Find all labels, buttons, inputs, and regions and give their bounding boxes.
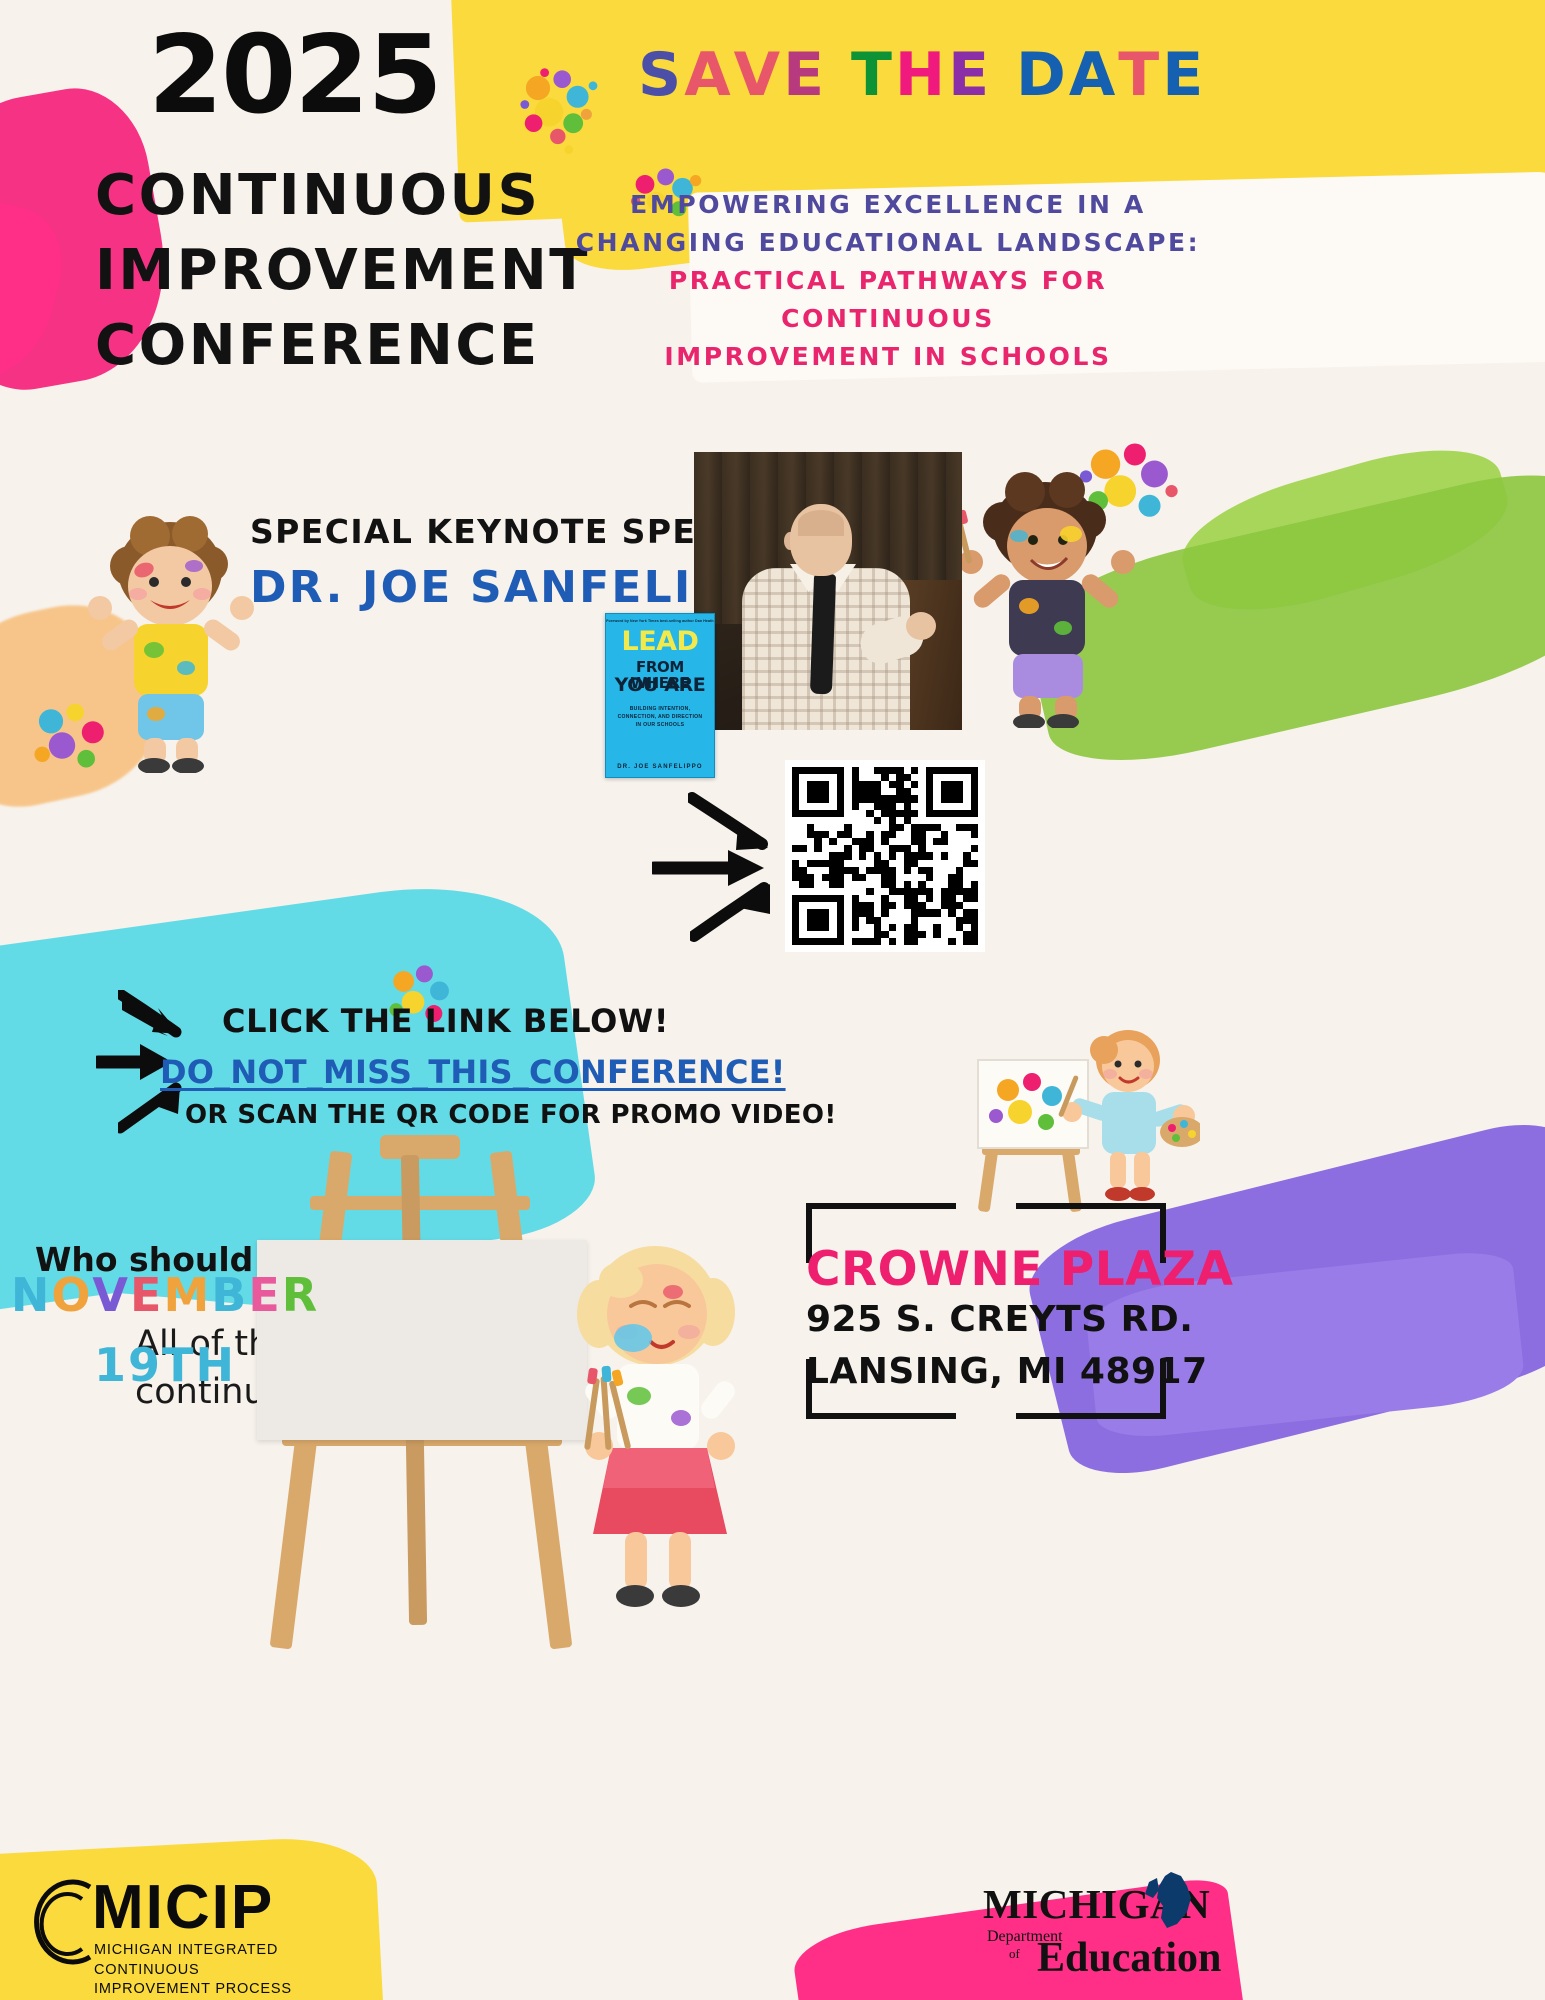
conference-title-line-2: IMPROVEMENT (95, 233, 590, 308)
subtitle-purple-line-1: EMPOWERING EXCELLENCE IN A (568, 186, 1208, 224)
book-title-lead: LEAD (606, 628, 714, 655)
save-date-letter-4 (827, 40, 851, 110)
subtitle-pink-line-2: IMPROVEMENT IN SCHOOLS (568, 338, 1208, 376)
arrow-icon-left-top (118, 990, 190, 1044)
month-letter-7: R (282, 1268, 319, 1322)
venue-address-line-2: LANSING, MI 48917 (806, 1351, 1166, 1392)
day-char-2: T (162, 1338, 195, 1392)
book-subtitle: BUILDING INTENTION,CONNECTION, AND DIREC… (606, 706, 714, 730)
poster-year: 2025 (148, 22, 441, 130)
save-the-date-heading: SAVE THE DATE (638, 40, 1206, 110)
save-date-letter-10: A (1069, 40, 1118, 110)
event-day: 19TH (0, 1338, 330, 1392)
green-brush-stroke-right-2 (1170, 427, 1520, 633)
pink-brush-stroke-left-2 (0, 185, 75, 396)
venue-name: CROWNE PLAZA (806, 1242, 1166, 1297)
micip-tagline-line-2: IMPROVEMENT PROCESS (94, 1980, 320, 2000)
save-date-letter-9: D (1016, 40, 1069, 110)
conference-subtitle: EMPOWERING EXCELLENCE IN A CHANGING EDUC… (568, 186, 1208, 376)
book-foreword-text: Foreword by New York Times best-selling … (606, 619, 714, 623)
poster-canvas: 2025 CONTINUOUS IMPROVEMENT CONFERENCE S… (0, 0, 1545, 2000)
conference-title-line-3: CONFERENCE (95, 308, 590, 383)
save-date-letter-1: A (684, 40, 733, 110)
save-date-letter-8 (992, 40, 1016, 110)
mde-education-text: Education (1037, 1934, 1221, 1982)
venue-address-line-1: 925 S. CREYTS RD. (806, 1299, 1166, 1340)
micip-wordmark: MICIP (92, 1877, 274, 1939)
month-letter-1: O (51, 1268, 92, 1322)
qr-code-promo-video[interactable] (785, 760, 985, 952)
month-letter-4: M (163, 1268, 211, 1322)
save-date-letter-12: E (1162, 40, 1206, 110)
michigan-department-of-education-logo: MICHIGAN Department of Education (965, 1872, 1255, 1992)
month-letter-2: V (92, 1268, 130, 1322)
book-author: DR. JOE SANFELIPPO (606, 764, 714, 770)
micip-tagline: MICHIGAN INTEGRATED CONTINUOUS IMPROVEME… (94, 1941, 320, 2000)
michigan-state-outline-icon (1137, 1868, 1199, 1934)
save-date-letter-6: H (895, 40, 948, 110)
speaker-photo (694, 452, 962, 730)
easel-crossbar-top (310, 1196, 530, 1210)
micip-tagline-line-1: MICHIGAN INTEGRATED CONTINUOUS (94, 1941, 320, 1980)
save-date-letter-0: S (638, 40, 684, 110)
arrow-icon-right-top (688, 792, 776, 854)
day-char-0: 1 (94, 1338, 128, 1392)
subtitle-purple-line-2: CHANGING EDUCATIONAL LANDSCAPE: (568, 224, 1208, 262)
click-link-instruction: CLICK THE LINK BELOW! (222, 1002, 669, 1040)
save-date-letter-7: E (948, 40, 992, 110)
month-letter-0: N (11, 1268, 52, 1322)
conference-registration-link[interactable]: DO_NOT_MISS_THIS_CONFERENCE! (160, 1053, 786, 1091)
book-title-you-are: YOU ARE (606, 676, 714, 695)
girl-painter-easel-illustration-right (960, 1020, 1200, 1230)
qr-scan-instruction: OR SCAN THE QR CODE FOR PROMO VIDEO! (185, 1100, 837, 1130)
day-char-3: H (195, 1338, 236, 1392)
save-date-letter-2: V (734, 40, 783, 110)
micip-logo: MICIP MICHIGAN INTEGRATED CONTINUOUS IMP… (20, 1855, 320, 1995)
kid-painter-illustration-right (955, 470, 1145, 728)
kid-painter-illustration-left (78, 508, 258, 773)
arrow-icon-right-bottom (690, 878, 778, 942)
month-letter-6: E (248, 1268, 281, 1322)
mde-of-text: of (1009, 1946, 1020, 1962)
month-letter-5: B (211, 1268, 248, 1322)
month-letter-3: E (130, 1268, 163, 1322)
save-date-letter-3: E (783, 40, 827, 110)
day-char-1: 9 (128, 1338, 162, 1392)
girl-painter-illustration (555, 1218, 770, 1618)
save-date-letter-5: T (851, 40, 895, 110)
event-month: NOVEMBER (0, 1268, 330, 1322)
book-cover-lead-from-where-you-are: Foreword by New York Times best-selling … (605, 613, 715, 778)
save-date-letter-11: T (1118, 40, 1162, 110)
conference-title: CONTINUOUS IMPROVEMENT CONFERENCE (95, 158, 590, 383)
subtitle-pink-line-1: PRACTICAL PATHWAYS FOR CONTINUOUS (568, 262, 1208, 338)
paint-splatter-icon-top (505, 55, 615, 165)
conference-title-line-1: CONTINUOUS (95, 158, 590, 233)
easel-top-peak (380, 1135, 460, 1159)
